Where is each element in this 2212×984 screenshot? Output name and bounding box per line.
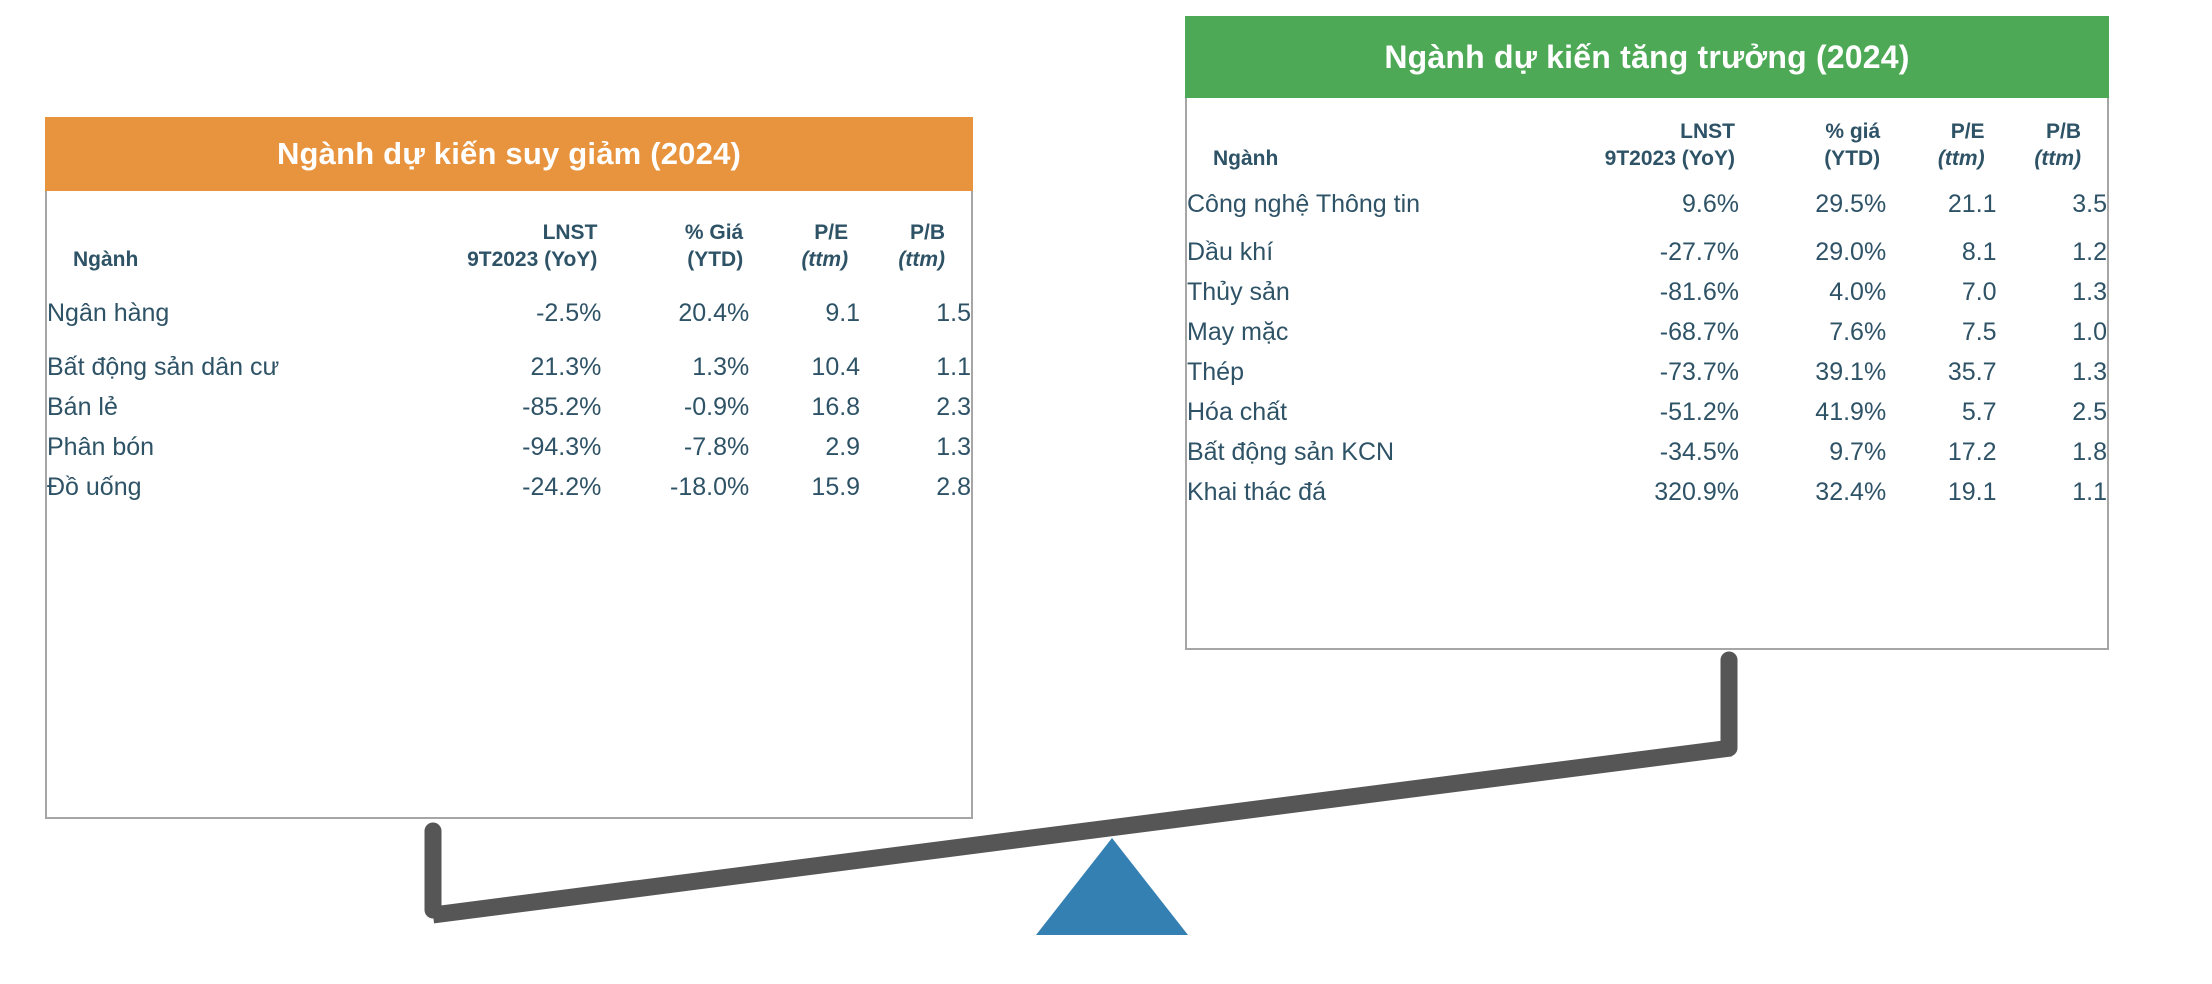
- cell-industry-name: May mặc: [1187, 312, 1564, 352]
- cell-industry-name: Bất động sản dân cư: [47, 347, 426, 387]
- cell-pe: 35.7: [1886, 352, 1996, 392]
- cell-price-change: 41.9%: [1739, 392, 1886, 432]
- table-row: Bất động sản dân cư21.3%1.3%10.41.1: [47, 347, 971, 387]
- cell-lnst: -85.2%: [426, 387, 602, 427]
- cell-industry-name: Bất động sản KCN: [1187, 432, 1564, 472]
- cell-pe: 2.9: [749, 427, 860, 467]
- cell-pe: 21.1: [1886, 176, 1996, 232]
- cell-price-change: 4.0%: [1739, 272, 1886, 312]
- cell-price-change: 39.1%: [1739, 352, 1886, 392]
- growing-panel-title: Ngành dự kiến tăng trưởng (2024): [1185, 16, 2109, 98]
- cell-pb: 1.3: [1997, 352, 2107, 392]
- cell-pb: 3.5: [1997, 176, 2107, 232]
- cell-industry-name: Hóa chất: [1187, 392, 1564, 432]
- declining-industries-panel: Ngành dự kiến suy giảm (2024) Ngành LNST…: [45, 117, 973, 819]
- cell-lnst: -51.2%: [1564, 392, 1739, 432]
- cell-pb: 1.1: [1997, 472, 2107, 512]
- table-row: Đồ uống-24.2%-18.0%15.92.8: [47, 467, 971, 507]
- cell-price-change: 29.0%: [1739, 232, 1886, 272]
- cell-industry-name: Thép: [1187, 352, 1564, 392]
- declining-table-body: Ngân hàng-2.5%20.4%9.11.5Bất động sản dâ…: [47, 279, 971, 507]
- column-header-pe: P/E (ttm): [1886, 100, 1996, 176]
- cell-lnst: -81.6%: [1564, 272, 1739, 312]
- cell-price-change: 7.6%: [1739, 312, 1886, 352]
- cell-price-change: 9.7%: [1739, 432, 1886, 472]
- cell-lnst: -68.7%: [1564, 312, 1739, 352]
- cell-price-change: -18.0%: [601, 467, 749, 507]
- growing-industries-table: Ngành LNST 9T2023 (YoY) % giá (YTD) P/E …: [1187, 100, 2107, 512]
- table-row: Phân bón-94.3%-7.8%2.91.3: [47, 427, 971, 467]
- cell-pe: 17.2: [1886, 432, 1996, 472]
- cell-pe: 19.1: [1886, 472, 1996, 512]
- cell-pb: 2.3: [860, 387, 971, 427]
- cell-industry-name: Thủy sản: [1187, 272, 1564, 312]
- cell-industry-name: Bán lẻ: [47, 387, 426, 427]
- declining-industries-table: Ngành LNST 9T2023 (YoY) % Giá (YTD) P/E …: [47, 193, 971, 507]
- growing-industries-panel: Ngành dự kiến tăng trưởng (2024) Ngành L…: [1185, 16, 2109, 650]
- column-header-price-change: % Giá (YTD): [601, 193, 749, 279]
- cell-pe: 15.9: [749, 467, 860, 507]
- cell-pe: 9.1: [749, 279, 860, 347]
- column-header-lnst: LNST 9T2023 (YoY): [426, 193, 602, 279]
- cell-pe: 7.0: [1886, 272, 1996, 312]
- column-header-lnst: LNST 9T2023 (YoY): [1564, 100, 1739, 176]
- column-header-industry: Ngành: [1187, 100, 1564, 176]
- table-row: Khai thác đá320.9%32.4%19.11.1: [1187, 472, 2107, 512]
- column-header-pb: P/B (ttm): [860, 193, 971, 279]
- growing-table-body: Công nghệ Thông tin9.6%29.5%21.13.5Dầu k…: [1187, 176, 2107, 512]
- table-header-row: Ngành LNST 9T2023 (YoY) % giá (YTD) P/E …: [1187, 100, 2107, 176]
- cell-pe: 8.1: [1886, 232, 1996, 272]
- cell-pb: 1.2: [1997, 232, 2107, 272]
- cell-price-change: 1.3%: [601, 347, 749, 387]
- column-header-pb: P/B (ttm): [1997, 100, 2107, 176]
- cell-lnst: -24.2%: [426, 467, 602, 507]
- cell-industry-name: Dầu khí: [1187, 232, 1564, 272]
- cell-lnst: -34.5%: [1564, 432, 1739, 472]
- declining-panel-title: Ngành dự kiến suy giảm (2024): [45, 117, 973, 191]
- column-header-pe: P/E (ttm): [749, 193, 860, 279]
- cell-price-change: 29.5%: [1739, 176, 1886, 232]
- cell-lnst: -27.7%: [1564, 232, 1739, 272]
- cell-pb: 1.8: [1997, 432, 2107, 472]
- table-row: May mặc-68.7%7.6%7.51.0: [1187, 312, 2107, 352]
- cell-lnst: -73.7%: [1564, 352, 1739, 392]
- cell-lnst: -2.5%: [426, 279, 602, 347]
- table-row: Thủy sản-81.6%4.0%7.01.3: [1187, 272, 2107, 312]
- table-row: Dầu khí-27.7%29.0%8.11.2: [1187, 232, 2107, 272]
- cell-price-change: 32.4%: [1739, 472, 1886, 512]
- cell-price-change: -7.8%: [601, 427, 749, 467]
- cell-industry-name: Công nghệ Thông tin: [1187, 176, 1564, 232]
- cell-industry-name: Khai thác đá: [1187, 472, 1564, 512]
- cell-pb: 2.5: [1997, 392, 2107, 432]
- cell-pe: 7.5: [1886, 312, 1996, 352]
- cell-industry-name: Đồ uống: [47, 467, 426, 507]
- cell-price-change: 20.4%: [601, 279, 749, 347]
- table-row: Bất động sản KCN-34.5%9.7%17.21.8: [1187, 432, 2107, 472]
- cell-pe: 10.4: [749, 347, 860, 387]
- cell-industry-name: Phân bón: [47, 427, 426, 467]
- cell-industry-name: Ngân hàng: [47, 279, 426, 347]
- cell-pb: 2.8: [860, 467, 971, 507]
- cell-pb: 1.1: [860, 347, 971, 387]
- table-row: Hóa chất-51.2%41.9%5.72.5: [1187, 392, 2107, 432]
- cell-lnst: 21.3%: [426, 347, 602, 387]
- table-row: Công nghệ Thông tin9.6%29.5%21.13.5: [1187, 176, 2107, 232]
- cell-lnst: 9.6%: [1564, 176, 1739, 232]
- table-row: Ngân hàng-2.5%20.4%9.11.5: [47, 279, 971, 347]
- cell-lnst: 320.9%: [1564, 472, 1739, 512]
- cell-pb: 1.3: [860, 427, 971, 467]
- cell-pb: 1.5: [860, 279, 971, 347]
- column-header-industry: Ngành: [47, 193, 426, 279]
- column-header-price-change: % giá (YTD): [1739, 100, 1886, 176]
- cell-lnst: -94.3%: [426, 427, 602, 467]
- table-row: Thép-73.7%39.1%35.71.3: [1187, 352, 2107, 392]
- fulcrum-triangle: [1036, 838, 1188, 935]
- cell-pe: 16.8: [749, 387, 860, 427]
- table-row: Bán lẻ-85.2%-0.9%16.82.3: [47, 387, 971, 427]
- cell-pb: 1.0: [1997, 312, 2107, 352]
- table-header-row: Ngành LNST 9T2023 (YoY) % Giá (YTD) P/E …: [47, 193, 971, 279]
- cell-pe: 5.7: [1886, 392, 1996, 432]
- cell-pb: 1.3: [1997, 272, 2107, 312]
- cell-price-change: -0.9%: [601, 387, 749, 427]
